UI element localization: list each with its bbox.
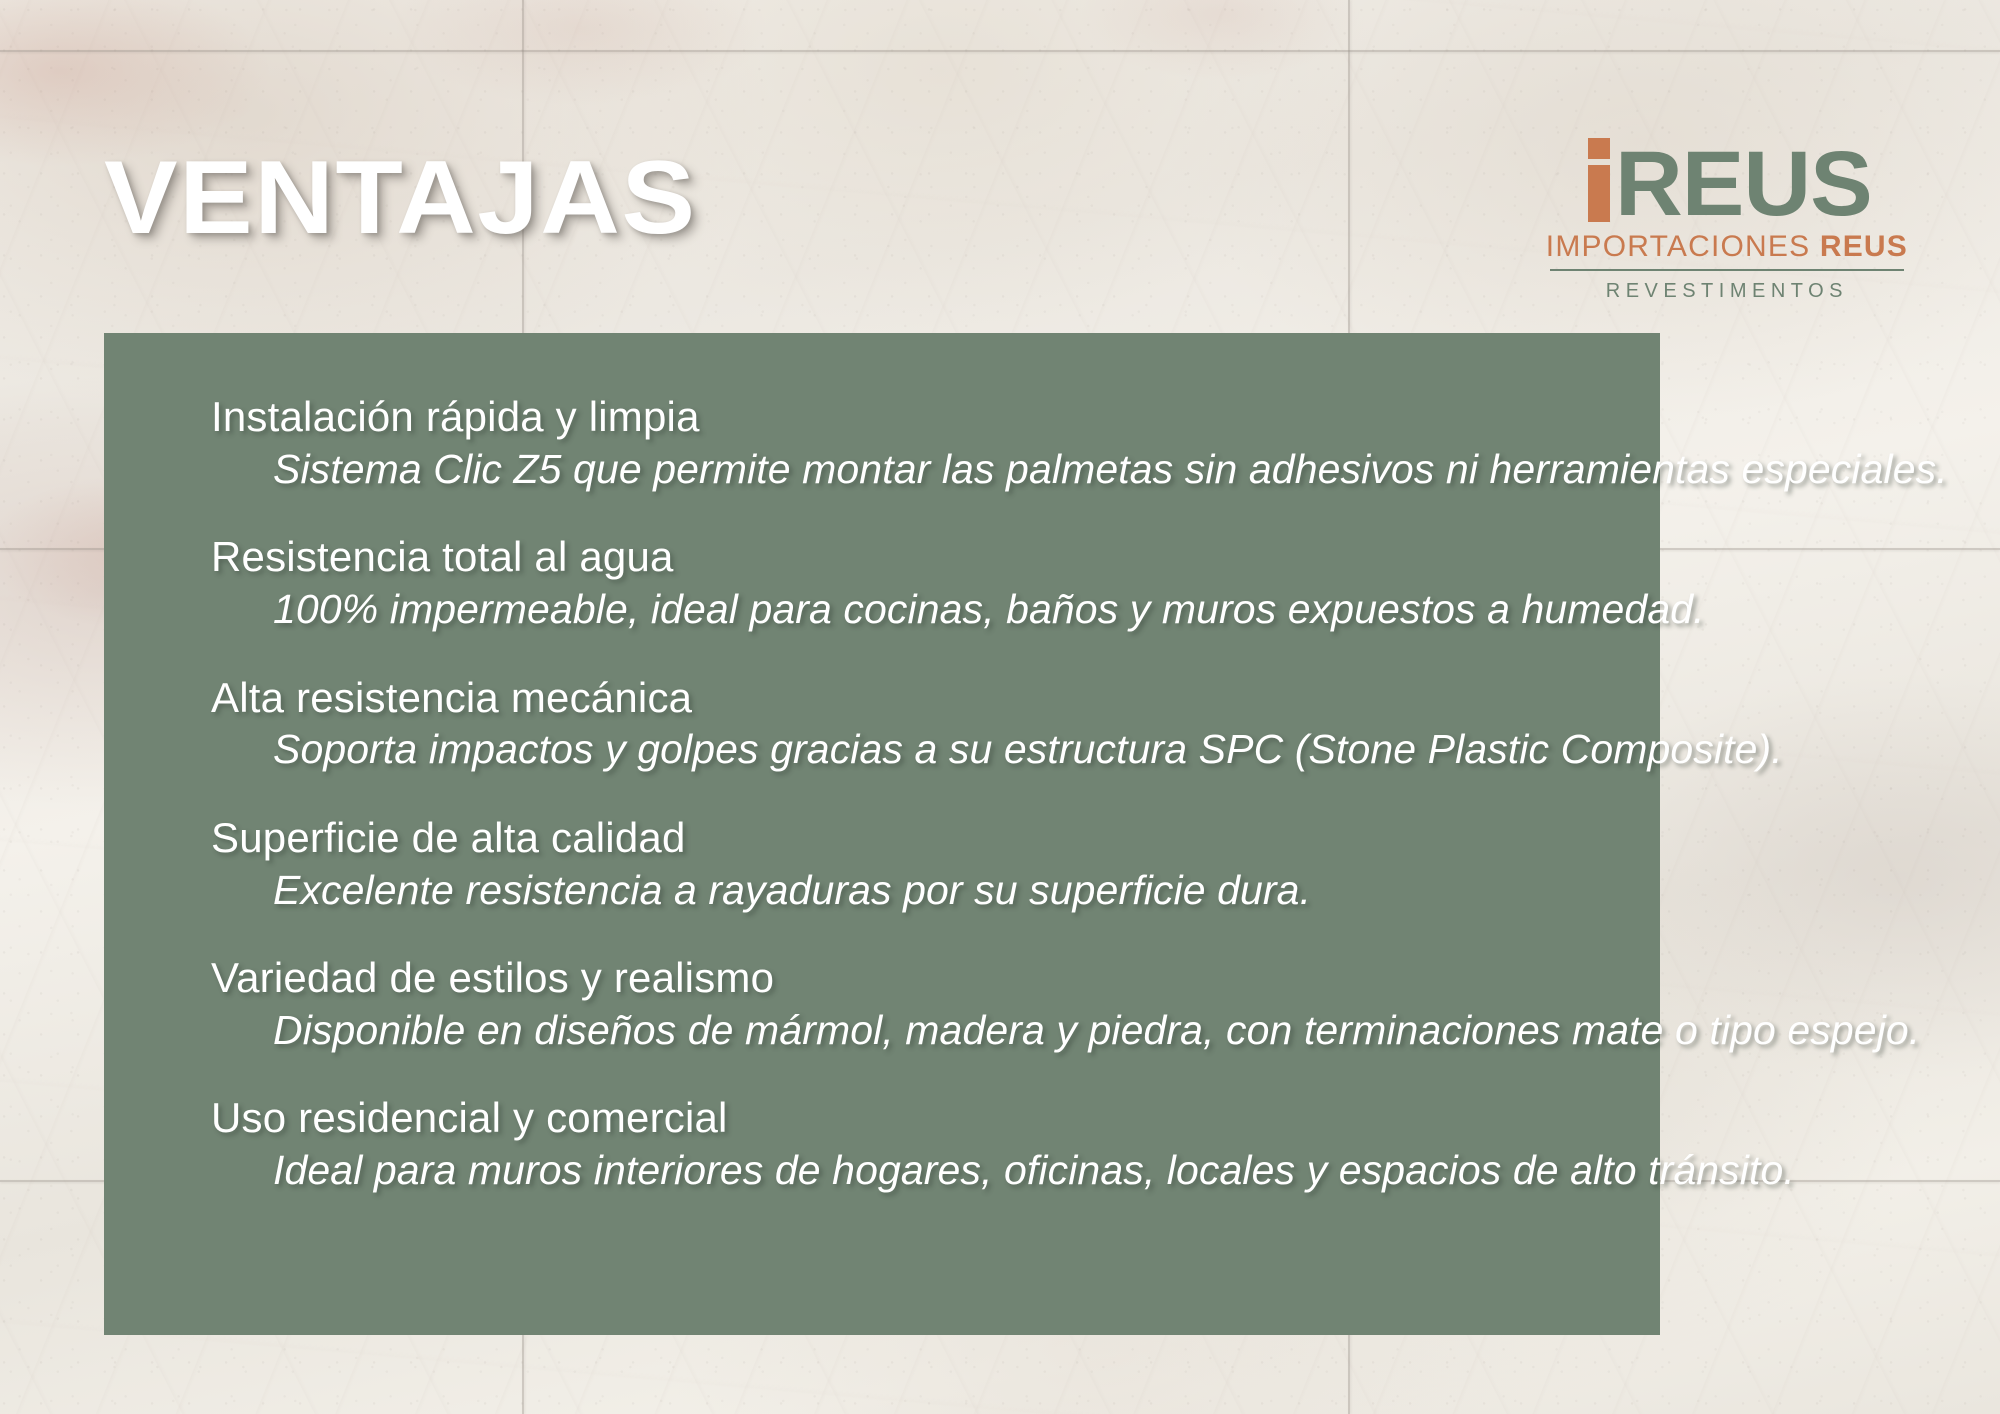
- advantage-heading: Variedad de estilos y realismo: [211, 954, 1620, 1003]
- logo-i-stem: [1588, 165, 1610, 222]
- advantage-heading: Uso residencial y comercial: [211, 1094, 1620, 1143]
- logo-tagline: REVESTIMENTOS: [1546, 280, 1908, 303]
- advantages-panel: Instalación rápida y limpiaSistema Clic …: [104, 333, 1660, 1335]
- logo-wordmark: REUS: [1615, 148, 1872, 222]
- tile-seam-horizontal-top: [0, 50, 2000, 52]
- page-title: VENTAJAS: [104, 146, 697, 250]
- advantage-description: Excelente resistencia a rayaduras por su…: [273, 867, 1620, 915]
- advantage-description: Soporta impactos y golpes gracias a su e…: [273, 726, 1620, 774]
- brand-logo[interactable]: REUS IMPORTACIONES REUS REVESTIMENTOS: [1546, 136, 1908, 303]
- logo-i-mark-icon: [1588, 138, 1610, 222]
- advantage-description: 100% impermeable, ideal para cocinas, ba…: [273, 586, 1620, 634]
- advantage-item: Instalación rápida y limpiaSistema Clic …: [211, 393, 1620, 493]
- advantage-heading: Resistencia total al agua: [211, 533, 1620, 582]
- slide-canvas: VENTAJAS REUS IMPORTACIONES REUS REVESTI…: [0, 0, 2000, 1414]
- advantage-description: Disponible en diseños de mármol, madera …: [273, 1007, 1620, 1055]
- advantages-list: Instalación rápida y limpiaSistema Clic …: [211, 393, 1620, 1195]
- advantage-heading: Superficie de alta calidad: [211, 814, 1620, 863]
- advantage-item: Superficie de alta calidadExcelente resi…: [211, 814, 1620, 914]
- advantage-item: Alta resistencia mecánicaSoporta impacto…: [211, 674, 1620, 774]
- logo-wordmark-row: REUS: [1546, 136, 1908, 222]
- advantage-description: Sistema Clic Z5 que permite montar las p…: [273, 446, 1620, 494]
- advantage-heading: Alta resistencia mecánica: [211, 674, 1620, 723]
- advantage-heading: Instalación rápida y limpia: [211, 393, 1620, 442]
- advantage-item: Resistencia total al agua100% impermeabl…: [211, 533, 1620, 633]
- advantage-item: Variedad de estilos y realismoDisponible…: [211, 954, 1620, 1054]
- advantage-item: Uso residencial y comercialIdeal para mu…: [211, 1094, 1620, 1194]
- logo-i-dot: [1588, 138, 1610, 159]
- logo-divider-rule: [1550, 269, 1904, 271]
- advantage-description: Ideal para muros interiores de hogares, …: [273, 1147, 1620, 1195]
